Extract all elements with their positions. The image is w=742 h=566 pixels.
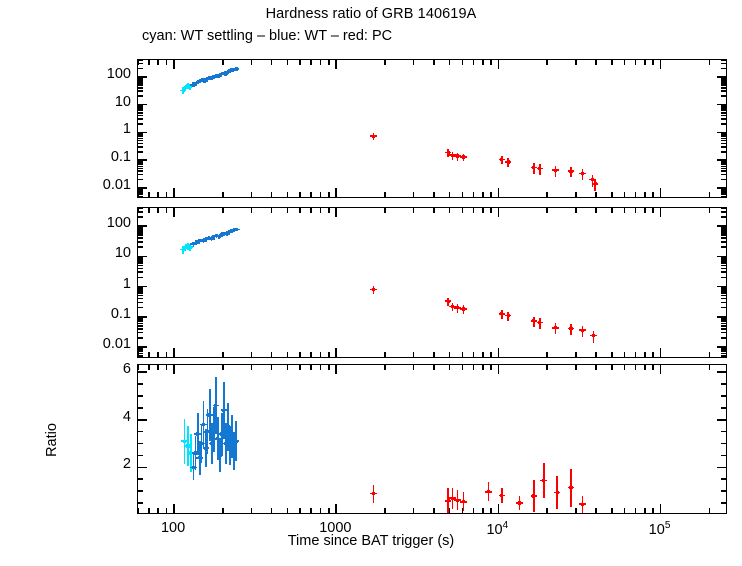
data-point-marker [538, 321, 541, 324]
x-tick [148, 365, 150, 370]
y-tick [721, 349, 726, 351]
y-tick [721, 292, 726, 294]
data-point-marker [554, 169, 557, 172]
y-tick [721, 395, 726, 397]
x-tick [449, 60, 451, 65]
x-tick [624, 508, 626, 513]
y-tick [721, 87, 726, 89]
y-tick [138, 80, 143, 82]
y-tick [721, 455, 726, 457]
y-tick [721, 79, 726, 81]
x-tick [148, 60, 150, 65]
y-tick-label: 10 [75, 245, 131, 261]
x-tick [310, 192, 312, 197]
x-tick [652, 192, 654, 197]
x-tick [498, 348, 500, 357]
y-tick-label: 0.1 [75, 149, 131, 165]
x-tick [384, 352, 386, 357]
y-tick [721, 95, 726, 97]
y-tick [138, 115, 143, 117]
y-tick [138, 371, 147, 373]
y-tick [138, 237, 143, 239]
data-point-marker [462, 155, 465, 158]
x-tick [595, 192, 597, 197]
y-tick-label: 1 [75, 121, 131, 137]
x-tick [173, 188, 175, 197]
y-tick-label: 10 [75, 94, 131, 110]
y-tick [138, 502, 143, 504]
x-tick [413, 352, 415, 357]
data-point-marker [189, 246, 192, 249]
x-tick [624, 60, 626, 65]
y-tick [138, 162, 143, 164]
y-tick [138, 63, 143, 65]
figure-canvas: Hardness ratio of GRB 140619A cyan: WT s… [0, 0, 742, 566]
y-tick [138, 337, 143, 339]
data-point-marker [500, 312, 503, 315]
y-tick [138, 174, 143, 176]
y-tick [138, 211, 143, 213]
x-tick [660, 365, 662, 374]
data-point-marker [581, 172, 584, 175]
x-tick-label: 100 [161, 520, 185, 536]
y-tick [721, 227, 726, 229]
x-tick [384, 508, 386, 513]
x-tick [546, 508, 548, 513]
data-point-marker [532, 494, 535, 497]
y-tick [138, 307, 143, 309]
y-tick [721, 207, 726, 209]
y-tick [721, 211, 726, 213]
y-tick [721, 337, 726, 339]
x-tick [462, 60, 464, 65]
y-tick [721, 108, 726, 110]
x-tick [320, 208, 322, 213]
x-tick [148, 508, 150, 513]
y-tick-label: 0.01 [75, 336, 131, 352]
x-tick [251, 60, 253, 65]
y-tick [721, 443, 726, 445]
y-tick [138, 292, 143, 294]
y-tick [138, 234, 143, 236]
y-tick [721, 190, 726, 192]
x-tick [575, 60, 577, 65]
x-tick [462, 192, 464, 197]
x-tick [413, 208, 415, 213]
y-tick [717, 225, 726, 227]
x-tick [624, 208, 626, 213]
data-point-marker [222, 409, 225, 412]
y-tick [721, 321, 726, 323]
y-tick [138, 138, 143, 140]
x-tick [595, 208, 597, 213]
x-tick [490, 508, 492, 513]
y-tick [721, 259, 726, 261]
x-tick [287, 508, 289, 513]
x-tick [320, 508, 322, 513]
x-tick [490, 192, 492, 197]
y-tick [721, 174, 726, 176]
x-tick [433, 508, 435, 513]
y-tick [138, 143, 143, 145]
x-tick [384, 365, 386, 370]
y-tick [138, 265, 143, 267]
x-tick [595, 365, 597, 370]
x-tick [652, 60, 654, 65]
x-tick [251, 352, 253, 357]
x-tick [328, 508, 330, 513]
y-tick [138, 118, 143, 120]
y-tick [721, 257, 726, 259]
panel-hard-band [137, 59, 727, 198]
x-tick [644, 365, 646, 370]
y-tick [138, 490, 143, 492]
x-tick [384, 192, 386, 197]
y-tick [721, 170, 726, 172]
y-tick [138, 316, 147, 318]
y-tick [717, 371, 726, 373]
data-point-marker [569, 327, 572, 330]
y-tick [717, 346, 726, 348]
x-tick [166, 208, 168, 213]
x-tick [611, 508, 613, 513]
x-tick [462, 352, 464, 357]
y-tick [138, 268, 143, 270]
data-point-marker [372, 288, 375, 291]
x-tick [660, 60, 662, 69]
x-tick [709, 508, 711, 513]
y-tick-label: 100 [75, 66, 131, 82]
y-tick [717, 316, 726, 318]
x-tick [384, 60, 386, 65]
x-tick [251, 192, 253, 197]
x-tick [320, 192, 322, 197]
y-tick [721, 196, 726, 198]
y-tick [721, 295, 726, 297]
y-tick [721, 90, 726, 92]
y-tick [721, 383, 726, 385]
x-tick [173, 208, 175, 217]
y-tick [138, 191, 143, 193]
x-tick [222, 208, 224, 213]
y-tick [721, 168, 726, 170]
x-tick [709, 208, 711, 213]
y-tick [721, 110, 726, 112]
x-tick [413, 508, 415, 513]
y-tick [721, 230, 726, 232]
x-tick [546, 208, 548, 213]
x-tick [644, 208, 646, 213]
x-tick [498, 365, 500, 374]
x-tick [652, 208, 654, 213]
x-tick [482, 192, 484, 197]
y-tick [138, 431, 143, 433]
page-title: Hardness ratio of GRB 140619A [0, 6, 742, 22]
x-tick [287, 208, 289, 213]
x-tick [299, 192, 301, 197]
data-point-marker [581, 503, 584, 506]
x-tick [611, 192, 613, 197]
y-tick [721, 287, 726, 289]
x-tick [462, 208, 464, 213]
y-tick [717, 286, 726, 288]
y-tick [138, 319, 143, 321]
y-tick [138, 136, 143, 138]
y-tick [138, 328, 143, 330]
y-tick [138, 87, 143, 89]
y-tick [721, 265, 726, 267]
data-point-marker [447, 499, 450, 502]
y-tick [717, 187, 726, 189]
x-tick [482, 365, 484, 370]
data-point-marker [554, 326, 557, 329]
x-tick [595, 60, 597, 65]
y-tick [721, 348, 726, 350]
x-tick [166, 192, 168, 197]
data-point-marker [447, 300, 450, 303]
y-tick [717, 132, 726, 134]
y-tick [138, 84, 143, 86]
x-tick [271, 508, 273, 513]
y-tick [138, 95, 143, 97]
y-tick [138, 140, 143, 142]
x-tick [173, 365, 175, 374]
x-tick [157, 352, 159, 357]
x-tick [148, 352, 150, 357]
x-tick [660, 188, 662, 197]
y-tick [138, 353, 143, 355]
x-tick [222, 365, 224, 370]
x-tick-label: 104 [486, 520, 508, 538]
y-axis-label-ratio: Ratio [44, 423, 60, 457]
y-tick [721, 307, 726, 309]
data-point-marker [581, 329, 584, 332]
y-tick [721, 179, 726, 181]
y-tick [721, 260, 726, 262]
y-tick [721, 490, 726, 492]
y-tick [138, 79, 143, 81]
x-tick [546, 60, 548, 65]
y-tick [138, 295, 143, 297]
y-tick [138, 68, 143, 70]
y-tick [138, 467, 147, 469]
y-tick [138, 383, 143, 385]
data-point-marker [456, 306, 459, 309]
y-tick-label: 1 [75, 276, 131, 292]
y-tick [721, 325, 726, 327]
x-tick [652, 352, 654, 357]
y-tick [138, 455, 143, 457]
x-tick [287, 192, 289, 197]
y-tick [138, 407, 143, 409]
y-tick [138, 230, 143, 232]
x-tick [173, 60, 175, 69]
y-tick-label: 100 [75, 215, 131, 231]
y-tick [138, 151, 143, 153]
x-tick [652, 365, 654, 370]
data-point-marker [532, 319, 535, 322]
y-tick [138, 159, 147, 161]
x-tick [271, 192, 273, 197]
x-tick [709, 192, 711, 197]
y-tick [138, 419, 147, 421]
x-tick [482, 508, 484, 513]
x-tick [490, 60, 492, 65]
panel-soft-band [137, 207, 727, 358]
y-tick [138, 76, 147, 78]
data-point-marker [372, 135, 375, 138]
x-tick [157, 508, 159, 513]
y-tick-label: 6 [75, 361, 131, 377]
x-tick [148, 192, 150, 197]
x-tick [433, 60, 435, 65]
y-tick [721, 193, 726, 195]
y-tick [138, 216, 143, 218]
x-tick [271, 208, 273, 213]
x-tick [490, 208, 492, 213]
x-tick [157, 192, 159, 197]
legend-subtitle: cyan: WT settling – blue: WT – red: PC [142, 28, 392, 44]
x-tick [335, 208, 337, 217]
y-tick [138, 104, 147, 106]
x-tick [166, 365, 168, 370]
y-tick [138, 132, 147, 134]
y-tick [721, 80, 726, 82]
y-tick [138, 82, 143, 84]
x-tick [709, 365, 711, 370]
plot-area-soft-band [138, 208, 726, 357]
y-tick [138, 478, 143, 480]
x-tick [473, 352, 475, 357]
plot-area-hard-band [138, 60, 726, 197]
y-tick [138, 346, 147, 348]
y-tick [721, 289, 726, 291]
y-tick [721, 151, 726, 153]
x-tick [299, 60, 301, 65]
y-tick [721, 241, 726, 243]
y-tick [721, 262, 726, 264]
y-tick [721, 191, 726, 193]
data-point-marker [507, 160, 510, 163]
y-tick [138, 179, 143, 181]
y-tick [138, 277, 143, 279]
data-point-marker [532, 166, 535, 169]
x-tick [335, 60, 337, 69]
y-tick [138, 110, 143, 112]
y-tick [721, 478, 726, 480]
x-tick [310, 365, 312, 370]
data-point-marker [462, 500, 465, 503]
data-point-marker [462, 307, 465, 310]
x-tick [335, 504, 337, 513]
x-tick [473, 60, 475, 65]
x-tick [222, 352, 224, 357]
x-tick [575, 192, 577, 197]
x-tick [709, 352, 711, 357]
x-tick [335, 188, 337, 197]
y-tick [138, 166, 143, 168]
x-tick [635, 352, 637, 357]
x-axis-label: Time since BAT trigger (s) [288, 533, 455, 549]
y-tick [138, 134, 143, 136]
x-tick [384, 208, 386, 213]
y-tick [138, 351, 143, 353]
x-tick [166, 508, 168, 513]
y-tick [721, 136, 726, 138]
plot-area-ratio [138, 365, 726, 513]
y-tick [717, 256, 726, 258]
x-tick [433, 365, 435, 370]
x-tick [473, 192, 475, 197]
y-tick [721, 407, 726, 409]
x-tick [644, 352, 646, 357]
y-tick [138, 170, 143, 172]
y-tick [138, 259, 143, 261]
y-tick [721, 268, 726, 270]
y-tick [721, 68, 726, 70]
data-point-marker [456, 154, 459, 157]
x-tick [310, 60, 312, 65]
x-tick [335, 348, 337, 357]
x-tick [624, 352, 626, 357]
y-tick [721, 140, 726, 142]
x-tick [611, 208, 613, 213]
x-tick [137, 508, 139, 513]
y-tick [138, 302, 143, 304]
y-tick [721, 302, 726, 304]
x-tick [287, 365, 289, 370]
x-tick [498, 188, 500, 197]
x-tick [251, 508, 253, 513]
y-tick [138, 260, 143, 262]
y-tick [721, 353, 726, 355]
y-tick [138, 187, 147, 189]
x-tick [433, 208, 435, 213]
y-tick [721, 332, 726, 334]
data-point-marker [214, 404, 217, 407]
x-tick [546, 192, 548, 197]
x-tick [611, 365, 613, 370]
y-tick [138, 232, 143, 234]
data-point-marker [500, 494, 503, 497]
x-tick [611, 352, 613, 357]
x-tick [328, 208, 330, 213]
x-tick [287, 352, 289, 357]
x-tick [575, 352, 577, 357]
y-tick [138, 355, 143, 357]
x-tick [575, 365, 577, 370]
y-tick [721, 115, 726, 117]
x-tick [433, 192, 435, 197]
x-tick [482, 60, 484, 65]
y-tick [138, 332, 143, 334]
data-point-marker [592, 334, 595, 337]
y-tick [721, 216, 726, 218]
x-tick [482, 208, 484, 213]
y-tick [138, 59, 143, 61]
x-tick [320, 60, 322, 65]
y-tick [721, 134, 726, 136]
y-tick [721, 138, 726, 140]
x-tick [148, 208, 150, 213]
y-tick [138, 190, 143, 192]
x-tick [635, 508, 637, 513]
x-tick [413, 365, 415, 370]
x-tick [660, 208, 662, 217]
x-tick [157, 365, 159, 370]
y-tick [721, 351, 726, 353]
x-tick [271, 60, 273, 65]
